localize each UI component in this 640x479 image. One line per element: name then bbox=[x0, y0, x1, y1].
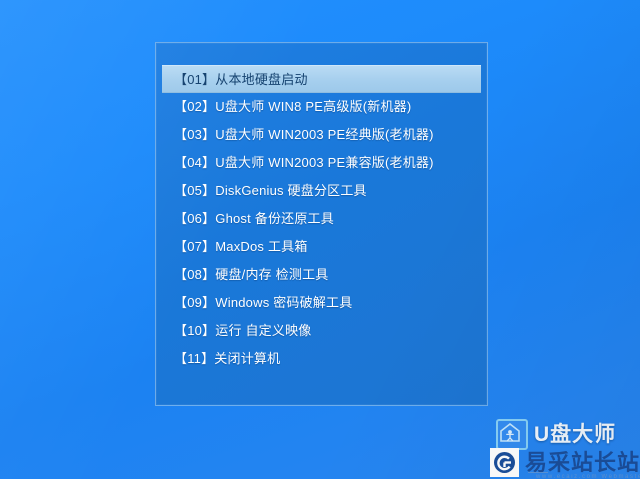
watermark-divider bbox=[528, 472, 548, 473]
boot-menu-item-10[interactable]: 【10】运行 自定义映像 bbox=[162, 317, 481, 345]
boot-menu-panel: 【01】从本地硬盘启动 【02】U盘大师 WIN8 PE高级版(新机器) 【03… bbox=[155, 42, 488, 406]
boot-menu-item-11[interactable]: 【11】关闭计算机 bbox=[162, 345, 481, 373]
boot-menu-item-08[interactable]: 【08】硬盘/内存 检测工具 bbox=[162, 261, 481, 289]
boot-menu-item-07[interactable]: 【07】MaxDos 工具箱 bbox=[162, 233, 481, 261]
boot-menu-item-09[interactable]: 【09】Windows 密码破解工具 bbox=[162, 289, 481, 317]
boot-menu-item-01[interactable]: 【01】从本地硬盘启动 bbox=[162, 65, 481, 93]
watermark-ecaizhanzhang-text: 易采站长站 bbox=[525, 452, 640, 474]
boot-menu-item-05[interactable]: 【05】DiskGenius 硬盘分区工具 bbox=[162, 177, 481, 205]
watermark-ecaizhanzhang-subtext: www.ecaiz.com Webmaster bbox=[536, 474, 640, 479]
boot-menu-item-03[interactable]: 【03】U盘大师 WIN2003 PE经典版(老机器) bbox=[162, 121, 481, 149]
desktop-background: 【01】从本地硬盘启动 【02】U盘大师 WIN8 PE高级版(新机器) 【03… bbox=[0, 0, 640, 479]
boot-menu-list[interactable]: 【01】从本地硬盘启动 【02】U盘大师 WIN8 PE高级版(新机器) 【03… bbox=[156, 65, 487, 373]
house-icon bbox=[496, 419, 528, 450]
watermark-upan-text: U盘大师 bbox=[534, 424, 616, 445]
watermark-ecaizhanzhang: 易采站长站 www.ecaiz.com Webmaster bbox=[490, 446, 640, 479]
boot-menu-item-04[interactable]: 【04】U盘大师 WIN2003 PE兼容版(老机器) bbox=[162, 149, 481, 177]
boot-menu-item-02[interactable]: 【02】U盘大师 WIN8 PE高级版(新机器) bbox=[162, 93, 481, 121]
circle-g-icon bbox=[490, 448, 519, 477]
boot-menu-item-06[interactable]: 【06】Ghost 备份还原工具 bbox=[162, 205, 481, 233]
